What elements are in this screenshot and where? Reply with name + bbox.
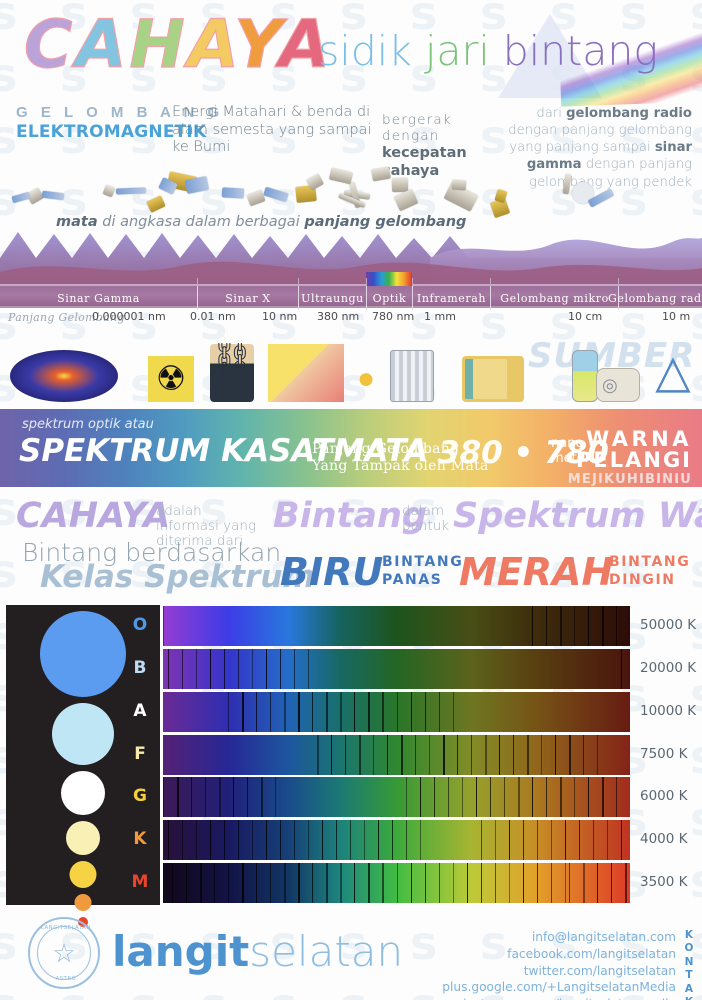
radio-receiver-icon: ◎ <box>596 368 640 402</box>
em-band-ultraungu[interactable]: Ultraungu <box>298 286 366 310</box>
subtitle-word-1: jari <box>425 27 503 75</box>
bintang-dingin-l2: DINGIN <box>609 572 690 590</box>
contact-list: info@langitselatan.comfacebook.com/langi… <box>442 929 676 1000</box>
space-telescope-icon <box>562 174 571 195</box>
bintang-panas-l2: PANAS <box>382 572 463 590</box>
watermark-letter: s <box>690 796 702 842</box>
absorption-lines <box>163 863 630 903</box>
space-telescope-icon <box>103 185 116 198</box>
warna-line3: MEJIKUHIBINIU <box>568 473 692 486</box>
watermark-letter: s <box>690 734 702 780</box>
contact-link-3[interactable]: plus.google.com/+LangitselatanMedia <box>442 979 676 996</box>
caption-mid: di angkasa dalam berbagai <box>98 214 305 230</box>
absorption-lines <box>163 820 630 860</box>
statement-kelas-spektrum: Kelas Spektrum <box>40 559 315 595</box>
dalam-bentuk-line: dalam bentuk <box>402 503 449 534</box>
spectral-class-letter-A: A <box>126 701 154 721</box>
temperature-label-B: 20000 K <box>640 660 696 676</box>
wavelength-tick-5: 1 mm <box>424 310 456 323</box>
spectral-class-letter-M: M <box>126 872 154 892</box>
em-band-tick <box>298 278 299 286</box>
space-telescope-icon <box>371 167 391 182</box>
uv-sunbathing-icon <box>268 344 344 402</box>
em-source-icon-strip: ☢⛓●◎△ <box>0 328 702 406</box>
spectrum-strip-O <box>163 606 630 646</box>
space-telescope-icon <box>263 187 289 203</box>
contact-link-4[interactable]: instagram.com/langitselatanmedia <box>442 996 676 1000</box>
spectrum-strip-M <box>163 863 630 903</box>
intro-bergerak-dengan: bergerak dengan <box>382 112 502 145</box>
spectral-class-letter-O: O <box>126 615 154 635</box>
temperature-label-F: 7500 K <box>640 746 688 762</box>
em-band-inframerah[interactable]: Inframerah <box>412 286 490 310</box>
page-subtitle: sidik jari bintang <box>318 31 658 72</box>
em-band-tick <box>197 278 198 286</box>
satellite-caption: mata di angkasa dalam berbagai panjang g… <box>56 214 466 230</box>
space-telescope-icon <box>329 168 353 185</box>
caption-panjang-gelombang: panjang gelombang <box>304 214 466 230</box>
kontak-letter-2: N <box>682 956 696 969</box>
absorption-lines <box>163 649 630 689</box>
warna-pelangi-block: WARNA PELANGI MEJIKUHIBINIU <box>568 429 692 486</box>
spectral-class-table: OBAFGKM 50000 K20000 K10000 K7500 K6000 … <box>6 605 630 905</box>
title-letter-1: A <box>75 6 129 83</box>
seal-text-top: LANGITSELATAN <box>30 925 102 931</box>
wavelength-tick-3: 380 nm <box>317 310 359 323</box>
spectral-class-letter-G: G <box>126 786 154 806</box>
spectrum-strip-A <box>163 692 630 732</box>
statement-dalam-bentuk: dalam bentuk <box>402 504 450 534</box>
space-telescope-icon <box>452 180 467 191</box>
space-telescope-icon <box>42 191 65 201</box>
seal-emblem-icon: ☆ <box>37 926 91 980</box>
satellite-illustration-band: mata di angkasa dalam berbagai panjang g… <box>0 168 702 238</box>
watermark-letter: s <box>690 858 702 904</box>
star-disc-B <box>52 703 114 765</box>
brand-wordmark: langitselatan <box>112 931 403 973</box>
kontak-letter-0: K <box>682 929 696 942</box>
mobile-phone-icon <box>572 350 598 402</box>
em-band-sinar-x[interactable]: Sinar X <box>197 286 298 310</box>
statement-biru: BIRU <box>280 550 383 594</box>
subtitle-word-2: bintang <box>503 27 658 75</box>
page-title: CAHAYA <box>24 12 333 78</box>
space-telescope-icon <box>146 195 166 213</box>
warna-line2: PELANGI <box>568 450 692 471</box>
subtitle-word-0: sidik <box>318 27 425 75</box>
wavelength-tick-1: 0.01 nm <box>190 310 236 323</box>
em-band-tick <box>366 278 367 286</box>
em-band-sinar-gamma[interactable]: Sinar Gamma <box>0 286 197 310</box>
temperature-label-O: 50000 K <box>640 617 696 633</box>
title-letter-3: A <box>188 6 235 83</box>
space-telescope-icon <box>116 187 146 194</box>
em-band-optik[interactable]: Optik <box>366 286 412 310</box>
radio-tower-icon: △ <box>648 340 698 402</box>
absorption-lines <box>163 735 630 775</box>
contact-link-2[interactable]: twitter.com/langitselatan <box>442 963 676 980</box>
spectral-class-letter-K: K <box>126 829 154 849</box>
contact-link-0[interactable]: info@langitselatan.com <box>442 929 676 946</box>
visible-spectrum-band: spektrum optik atau SPEKTRUM KASATMATA P… <box>0 409 702 487</box>
gamma-sky-map-icon <box>10 350 118 402</box>
footer: LANGITSELATAN ☆ ASTRO langitselatan info… <box>0 905 702 1000</box>
bintang-dingin-l1: BINTANG <box>609 554 690 572</box>
kontak-letter-5: K <box>682 996 696 1000</box>
wavelength-tick-row: Panjang Gelombang 0.000001 nm0.01 nm10 n… <box>0 310 702 328</box>
xray-person-icon: ⛓ <box>210 344 254 402</box>
absorption-lines <box>163 692 630 732</box>
brand-selatan: selatan <box>249 927 403 976</box>
statement-spektrum-warna: Spektrum Warna <box>453 496 702 536</box>
langitselatan-seal-logo: LANGITSELATAN ☆ ASTRO <box>28 917 100 989</box>
em-band-tick <box>618 278 619 286</box>
space-telescope-icon <box>185 176 209 194</box>
star-disc-G <box>70 861 97 888</box>
spectrum-strip-K <box>163 820 630 860</box>
warna-line1: WARNA <box>568 429 692 450</box>
statement-block: CAHAYA adalah informasi yang diterima da… <box>0 492 702 597</box>
absorption-lines <box>163 606 630 646</box>
star-disc-A <box>61 771 105 815</box>
space-telescope-icon <box>11 192 30 204</box>
optical-window-chip <box>366 272 412 286</box>
spectrum-strip-F <box>163 735 630 775</box>
wavelength-tick-2: 10 nm <box>262 310 297 323</box>
intro-col4-part-1: gelombang radio <box>566 106 692 121</box>
title-letter-2: H <box>130 6 188 83</box>
em-band-gelombang-mikro[interactable]: Gelombang mikro <box>490 286 618 310</box>
star-disc-F <box>66 821 100 855</box>
temperature-label-K: 4000 K <box>640 831 688 847</box>
statement-merah: MERAH <box>459 550 613 594</box>
kontak-letter-1: O <box>682 942 696 955</box>
intro-col4-part-0: dari <box>536 106 566 121</box>
visible-spectrum-subtitle: spektrum optik atau <box>22 417 154 432</box>
temperature-label-M: 3500 K <box>640 874 688 890</box>
em-band-gelombang-radio[interactable]: Gelombang radio <box>618 286 702 310</box>
temperature-label-A: 10000 K <box>640 703 696 719</box>
contact-link-1[interactable]: facebook.com/langitselatan <box>442 946 676 963</box>
caption-mata: mata <box>56 214 98 230</box>
brand-langit: langit <box>112 927 249 976</box>
em-band-tick <box>490 278 491 286</box>
wavelength-tick-6: 10 cm <box>568 310 602 323</box>
radiation-symbol-icon: ☢ <box>148 356 194 402</box>
bintang-panas-l1: BINTANG <box>382 554 463 572</box>
kontak-letter-4: A <box>682 983 696 996</box>
heater-icon <box>390 350 434 402</box>
intro-column-2: Energi Matahari & benda di alam semesta … <box>172 104 372 157</box>
wavelength-tick-4: 780 nm <box>372 310 414 323</box>
label-bintang-dingin: BINTANG DINGIN <box>609 554 690 589</box>
star-disc-O <box>40 611 126 697</box>
kontak-letter-3: T <box>682 969 696 982</box>
temperature-label-G: 6000 K <box>640 788 688 804</box>
kontak-vertical-label: KONTAK <box>682 929 696 1000</box>
wavelength-tick-7: 10 m <box>662 310 690 323</box>
space-telescope-icon <box>222 187 244 198</box>
intro-text-block: G E L O M B A N G ELEKTROMAGNETIK Energi… <box>0 100 702 168</box>
header: CAHAYA sidik jari bintang <box>0 0 702 100</box>
spectral-class-letter-F: F <box>126 744 154 764</box>
absorption-lines <box>163 777 630 817</box>
em-spectrum-bar: Sinar GammaSinar XUltraunguOptikInframer… <box>0 284 702 308</box>
infographic-page: ssssssssssssssssssssssssssssssssssssssss… <box>0 0 702 1000</box>
em-band-tick <box>412 278 413 286</box>
wavelength-tick-0: 0.000001 nm <box>92 310 166 323</box>
spectrum-strip-G <box>163 777 630 817</box>
spectral-class-letter-B: B <box>126 658 154 678</box>
label-bintang-panas: BINTANG PANAS <box>382 554 463 589</box>
light-bulb-icon: ● <box>348 356 384 402</box>
spectrum-strip-B <box>163 649 630 689</box>
space-telescope-icon <box>246 190 265 207</box>
statement-cahaya: CAHAYA <box>16 496 170 536</box>
seal-text-bottom: ASTRO <box>30 976 102 982</box>
title-letter-0: C <box>24 6 75 83</box>
title-letter-4: Y <box>234 6 278 83</box>
microwave-oven-icon <box>462 356 524 402</box>
